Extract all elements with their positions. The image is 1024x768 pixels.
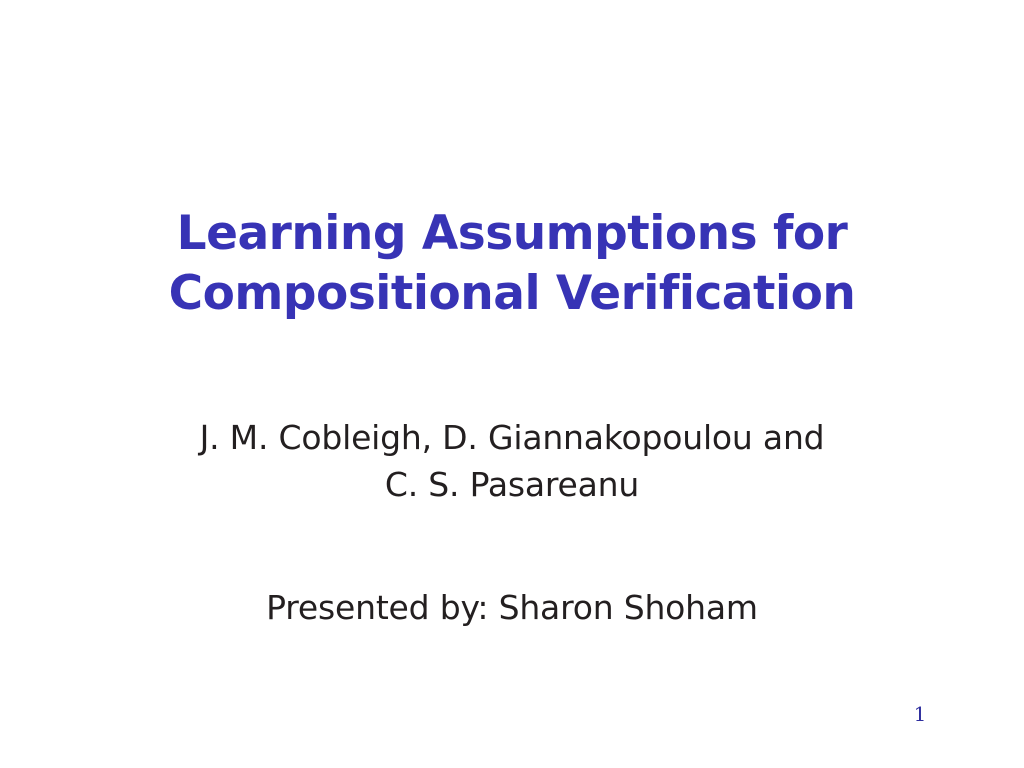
author-list: J. M. Cobleigh, D. Giannakopoulou and C.…: [112, 414, 912, 508]
presenter-line: Presented by: Sharon Shoham: [112, 584, 912, 631]
title-line-1: Learning Assumptions for: [112, 204, 912, 264]
presentation-slide: Learning Assumptions for Compositional V…: [0, 0, 1024, 768]
author-line-1: J. M. Cobleigh, D. Giannakopoulou and: [112, 414, 912, 461]
author-line-2: C. S. Pasareanu: [112, 461, 912, 508]
title-line-2: Compositional Verification: [112, 264, 912, 324]
slide-title: Learning Assumptions for Compositional V…: [112, 204, 912, 324]
page-number: 1: [900, 703, 940, 725]
presenter-credit: Presented by: Sharon Shoham: [112, 584, 912, 631]
